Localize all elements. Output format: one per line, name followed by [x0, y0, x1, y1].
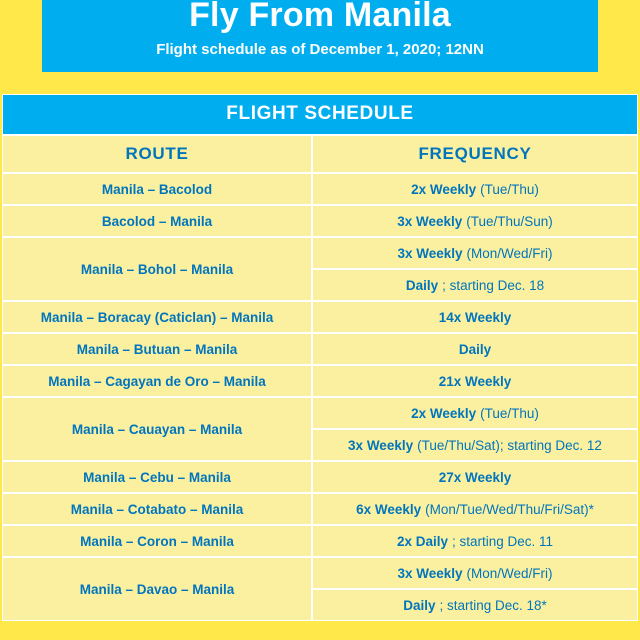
frequency-line: 3x Weekly(Tue/Thu/Sat); starting Dec. 12: [312, 429, 638, 461]
frequency-line: 3x Weekly(Tue/Thu/Sun): [312, 205, 638, 237]
frequency-count: 14x Weekly: [439, 310, 512, 325]
table-row: Manila – Bacolod2x Weekly(Tue/Thu): [2, 173, 638, 205]
frequency-count: 3x Weekly: [397, 566, 462, 581]
route-cell: Bacolod – Manila: [2, 205, 312, 237]
frequency-line: Daily: [312, 333, 638, 365]
frequency-line: 2x Weekly(Tue/Thu): [312, 397, 638, 429]
frequency-detail: (Tue/Thu): [480, 406, 539, 421]
table-body: Manila – Bacolod2x Weekly(Tue/Thu)Bacolo…: [2, 173, 638, 621]
frequency-cell: 2x Daily; starting Dec. 11: [312, 525, 638, 557]
column-header-frequency: FREQUENCY: [312, 135, 638, 173]
column-header-route: ROUTE: [2, 135, 312, 173]
header-banner: Fly From Manila Flight schedule as of De…: [42, 0, 598, 72]
frequency-cell: 3x Weekly(Mon/Wed/Fri)Daily; starting De…: [312, 557, 638, 621]
frequency-line: 3x Weekly(Mon/Wed/Fri): [312, 557, 638, 589]
frequency-count: 2x Weekly: [411, 182, 476, 197]
route-cell: Manila – Bacolod: [2, 173, 312, 205]
table-row: Manila – Cotabato – Manila6x Weekly(Mon/…: [2, 493, 638, 525]
frequency-count: Daily: [406, 278, 438, 293]
frequency-detail: (Tue/Thu): [480, 182, 539, 197]
flight-schedule-table: FLIGHT SCHEDULE ROUTE FREQUENCY Manila –…: [2, 94, 638, 621]
route-cell: Manila – Cagayan de Oro – Manila: [2, 365, 312, 397]
table-row: Manila – Cagayan de Oro – Manila21x Week…: [2, 365, 638, 397]
frequency-count: 27x Weekly: [439, 470, 512, 485]
page-subtitle: Flight schedule as of December 1, 2020; …: [42, 40, 598, 60]
frequency-line: Daily; starting Dec. 18: [312, 269, 638, 301]
route-cell: Manila – Bohol – Manila: [2, 237, 312, 301]
frequency-cell: 27x Weekly: [312, 461, 638, 493]
route-cell: Manila – Boracay (Caticlan) – Manila: [2, 301, 312, 333]
table-row: Manila – Cebu – Manila27x Weekly: [2, 461, 638, 493]
frequency-line: 27x Weekly: [312, 461, 638, 493]
table-row: Manila – Davao – Manila3x Weekly(Mon/Wed…: [2, 557, 638, 621]
route-cell: Manila – Cauayan – Manila: [2, 397, 312, 461]
frequency-cell: 14x Weekly: [312, 301, 638, 333]
frequency-count: Daily: [403, 598, 435, 613]
table-row: Manila – Boracay (Caticlan) – Manila14x …: [2, 301, 638, 333]
frequency-line: 21x Weekly: [312, 365, 638, 397]
frequency-count: Daily: [459, 342, 491, 357]
frequency-count: 2x Weekly: [411, 406, 476, 421]
route-cell: Manila – Cotabato – Manila: [2, 493, 312, 525]
frequency-detail: (Tue/Thu/Sun): [466, 214, 553, 229]
frequency-cell: Daily: [312, 333, 638, 365]
table-row: Manila – Bohol – Manila3x Weekly(Mon/Wed…: [2, 237, 638, 301]
frequency-detail: (Mon/Tue/Wed/Thu/Fri/Sat)*: [425, 502, 594, 517]
route-cell: Manila – Butuan – Manila: [2, 333, 312, 365]
page-title: Fly From Manila: [42, 0, 598, 34]
frequency-count: 6x Weekly: [356, 502, 421, 517]
table-section-title: FLIGHT SCHEDULE: [2, 94, 638, 135]
table-row: Manila – Butuan – ManilaDaily: [2, 333, 638, 365]
frequency-count: 2x Daily: [397, 534, 448, 549]
frequency-line: 2x Daily; starting Dec. 11: [312, 525, 638, 557]
frequency-detail: ; starting Dec. 18: [442, 278, 544, 293]
frequency-cell: 21x Weekly: [312, 365, 638, 397]
frequency-detail: ; starting Dec. 11: [452, 534, 553, 549]
frequency-count: 3x Weekly: [397, 246, 462, 261]
frequency-line: 3x Weekly(Mon/Wed/Fri): [312, 237, 638, 269]
frequency-detail: ; starting Dec. 18*: [439, 598, 546, 613]
frequency-line: 14x Weekly: [312, 301, 638, 333]
table-row: Manila – Cauayan – Manila2x Weekly(Tue/T…: [2, 397, 638, 461]
frequency-detail: (Mon/Wed/Fri): [467, 566, 553, 581]
frequency-count: 3x Weekly: [348, 438, 413, 453]
table-row: Bacolod – Manila3x Weekly(Tue/Thu/Sun): [2, 205, 638, 237]
table-row: Manila – Coron – Manila2x Daily; startin…: [2, 525, 638, 557]
frequency-count: 21x Weekly: [439, 374, 512, 389]
frequency-line: 6x Weekly(Mon/Tue/Wed/Thu/Fri/Sat)*: [312, 493, 638, 525]
table-header-row: ROUTE FREQUENCY: [2, 135, 638, 173]
frequency-line: 2x Weekly(Tue/Thu): [312, 173, 638, 205]
frequency-count: 3x Weekly: [397, 214, 462, 229]
frequency-cell: 2x Weekly(Tue/Thu)3x Weekly(Tue/Thu/Sat)…: [312, 397, 638, 461]
route-cell: Manila – Cebu – Manila: [2, 461, 312, 493]
frequency-cell: 2x Weekly(Tue/Thu): [312, 173, 638, 205]
frequency-cell: 6x Weekly(Mon/Tue/Wed/Thu/Fri/Sat)*: [312, 493, 638, 525]
frequency-detail: (Mon/Wed/Fri): [467, 246, 553, 261]
route-cell: Manila – Coron – Manila: [2, 525, 312, 557]
frequency-line: Daily; starting Dec. 18*: [312, 589, 638, 621]
frequency-cell: 3x Weekly(Tue/Thu/Sun): [312, 205, 638, 237]
route-cell: Manila – Davao – Manila: [2, 557, 312, 621]
flight-schedule-page: Fly From Manila Flight schedule as of De…: [0, 0, 640, 640]
frequency-cell: 3x Weekly(Mon/Wed/Fri)Daily; starting De…: [312, 237, 638, 301]
frequency-detail: (Tue/Thu/Sat); starting Dec. 12: [417, 438, 602, 453]
